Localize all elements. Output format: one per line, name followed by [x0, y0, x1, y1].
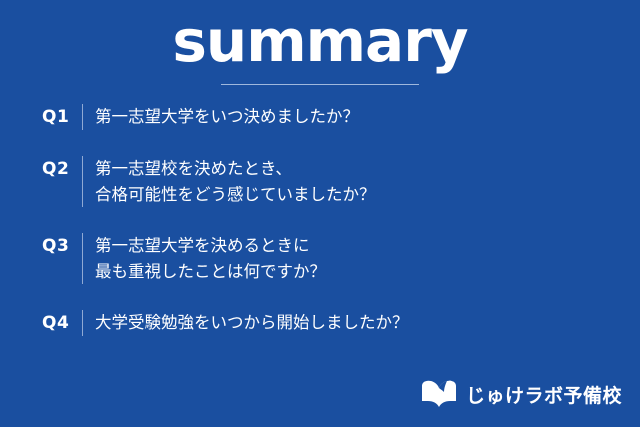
question-label: Q4 [42, 310, 82, 336]
page-title: summary [0, 8, 640, 75]
question-label: Q1 [42, 104, 82, 130]
question-label: Q2 [42, 156, 82, 182]
title-divider [221, 84, 419, 85]
question-text: 第一志望校を決めたとき、 合格可能性をどう感じていましたか？ [95, 156, 602, 207]
list-item: Q3 第一志望大学を決めるときに 最も重視したことは何ですか？ [42, 233, 602, 284]
question-list: Q1 第一志望大学をいつ決めましたか？ Q2 第一志望校を決めたとき、 合格可能… [42, 104, 602, 336]
brand-logo: じゅけラボ予備校 [419, 375, 622, 413]
question-text: 第一志望大学を決めるときに 最も重視したことは何ですか？ [95, 233, 602, 284]
list-item: Q2 第一志望校を決めたとき、 合格可能性をどう感じていましたか？ [42, 156, 602, 207]
list-item: Q1 第一志望大学をいつ決めましたか？ [42, 104, 602, 130]
question-divider [82, 233, 83, 284]
open-book-icon [419, 376, 459, 412]
question-text: 第一志望大学をいつ決めましたか？ [95, 104, 602, 130]
brand-name: じゅけラボ予備校 [466, 381, 622, 408]
question-divider [82, 156, 83, 207]
question-text: 大学受験勉強をいつから開始しましたか？ [95, 310, 602, 336]
question-label: Q3 [42, 233, 82, 259]
summary-slide: summary Q1 第一志望大学をいつ決めましたか？ Q2 第一志望校を決めた… [0, 0, 640, 427]
list-item: Q4 大学受験勉強をいつから開始しましたか？ [42, 310, 602, 336]
question-divider [82, 104, 83, 130]
question-divider [82, 310, 83, 336]
